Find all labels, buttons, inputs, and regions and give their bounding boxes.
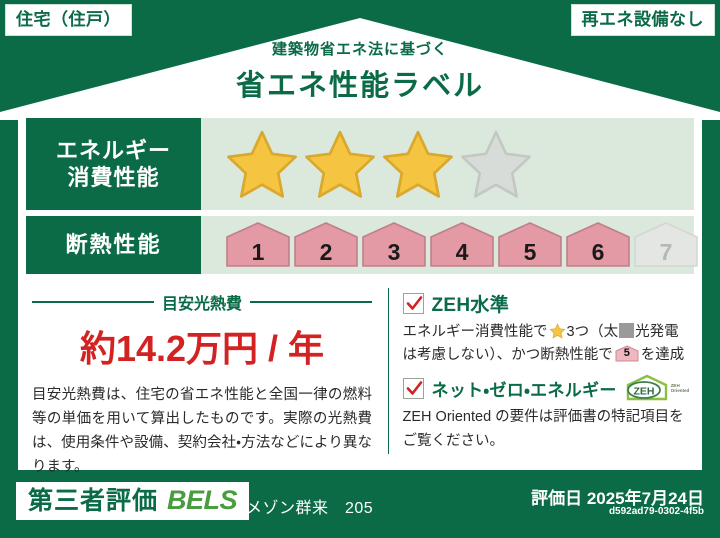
house-filled-icon [497, 221, 563, 269]
title-main: 省エネ性能ラベル [0, 62, 720, 104]
zeh-standard-block: ZEH水準 エネルギー消費性能で3つ（太光発電は考慮しない）、かつ断熱性能で5を… [403, 290, 690, 367]
house-filled-icon [429, 221, 495, 269]
insulation-level-7: 7 [633, 221, 699, 269]
title-subtitle: 建築物省エネ法に基づく [0, 38, 720, 59]
check-icon [405, 294, 424, 313]
utility-cost-note: 目安光熱費は、住宅の省エネ性能と全国一律の燃料等の単価を用いて算出したものです。… [32, 384, 372, 480]
insulation-level-3: 3 [361, 221, 427, 269]
house-filled-icon [293, 221, 359, 269]
zeh-logo-icon: ZEH [625, 374, 669, 402]
inline-level-number: 5 [615, 345, 639, 363]
building-name: メゾン群来 205 [246, 494, 373, 518]
insulation-level-6: 6 [565, 221, 631, 269]
energy-performance-label: 住宅（住戸） 再エネ設備なし 建築物省エネ法に基づく 省エネ性能ラベル エネルギ… [0, 0, 720, 538]
insulation-level-4: 4 [429, 221, 495, 269]
house-filled-icon [565, 221, 631, 269]
tag-housing-type: 住宅（住戸） [5, 4, 132, 36]
label-lower-section: 目安光熱費 約14.2万円 / 年 目安光熱費は、住宅の省エネ性能と全国一律の燃… [26, 284, 694, 464]
star-rating [225, 128, 533, 200]
energy-performance-value [201, 118, 694, 210]
star-empty-icon [459, 128, 533, 200]
energy-label-line2: 消費性能 [67, 164, 159, 192]
bels-logo-text: BELS [167, 487, 237, 514]
star-filled-icon [381, 128, 455, 200]
house-filled-icon [361, 221, 427, 269]
net-zero-checkbox[interactable] [403, 378, 424, 399]
insulation-performance-row: 断熱性能 1234567 [26, 216, 694, 274]
label-footer: 第三者評価 BELS メゾン群来 205 評価日 2025年7月24日 d592… [0, 470, 720, 538]
utility-cost-column: 目安光熱費 約14.2万円 / 年 目安光熱費は、住宅の省エネ性能と全国一律の燃… [26, 284, 382, 464]
net-zero-heading: ネット・ゼロ・エネルギー ZEH ZEH Oriented [403, 375, 690, 401]
label-title: 建築物省エネ法に基づく 省エネ性能ラベル [0, 38, 720, 104]
insulation-level-5: 5 [497, 221, 563, 269]
utility-cost-value: 約14.2万円 / 年 [32, 320, 372, 372]
energy-performance-row: エネルギー 消費性能 [26, 118, 694, 210]
zeh-logo-subtext: ZEH Oriented [671, 383, 690, 393]
zeh-logo-sub-line2: Oriented [671, 388, 690, 393]
energy-performance-label: エネルギー 消費性能 [26, 118, 201, 210]
insulation-performance-label: 断熱性能 [26, 216, 201, 274]
zeh-standard-checkbox[interactable] [403, 293, 424, 314]
label-body-card: エネルギー 消費性能 断熱性能 1234567 目安光熱費 約14.2万 [18, 110, 702, 470]
tag-renewable-equipment: 再エネ設備なし [571, 4, 716, 36]
energy-label-line1: エネルギー [56, 137, 171, 165]
insulation-level-1: 1 [225, 221, 291, 269]
zeh-standard-body: エネルギー消費性能で3つ（太光発電は考慮しない）、かつ断熱性能で5を達成 [403, 321, 690, 367]
insulation-level-scale: 1234567 [225, 221, 699, 269]
redacted-character [619, 323, 634, 338]
column-divider [388, 288, 389, 454]
utility-cost-heading: 目安光熱費 [32, 290, 372, 314]
bels-japanese-text: 第三者評価 [28, 489, 158, 514]
zeh-standard-heading: ZEH水準 [403, 290, 690, 316]
zeh-standard-text-4: を達成 [641, 347, 685, 363]
check-icon [405, 379, 424, 398]
cost-heading-text: 目安光熱費 [162, 290, 242, 314]
star-filled-icon [225, 128, 299, 200]
inline-star-icon [549, 323, 566, 339]
svg-text:ZEH: ZEH [633, 386, 654, 398]
house-empty-icon [633, 221, 699, 269]
house-filled-icon [225, 221, 291, 269]
cost-rule-right [250, 301, 372, 303]
inline-insulation-level: 5 [615, 345, 639, 362]
evaluation-id: d592ad79-0302-4f5b [609, 506, 704, 517]
zeh-standard-text-1: エネルギー消費性能で [403, 324, 548, 340]
zeh-column: ZEH水準 エネルギー消費性能で3つ（太光発電は考慮しない）、かつ断熱性能で5を… [395, 284, 694, 464]
net-zero-body: ZEH Oriented の要件は評価書の特記項目をご覧ください。 [403, 406, 690, 452]
insulation-level-2: 2 [293, 221, 359, 269]
cost-rule-left [32, 301, 154, 303]
insulation-performance-value: 1234567 [201, 216, 699, 274]
net-zero-title: ネット・ゼロ・エネルギー [432, 376, 617, 401]
zeh-standard-text-2: 3つ（太 [567, 324, 619, 340]
net-zero-energy-block: ネット・ゼロ・エネルギー ZEH ZEH Oriented [403, 375, 690, 452]
zeh-logo: ZEH ZEH Oriented [625, 374, 690, 402]
zeh-standard-title: ZEH水準 [432, 290, 510, 317]
star-filled-icon [303, 128, 377, 200]
bels-badge: 第三者評価 BELS [16, 482, 249, 520]
